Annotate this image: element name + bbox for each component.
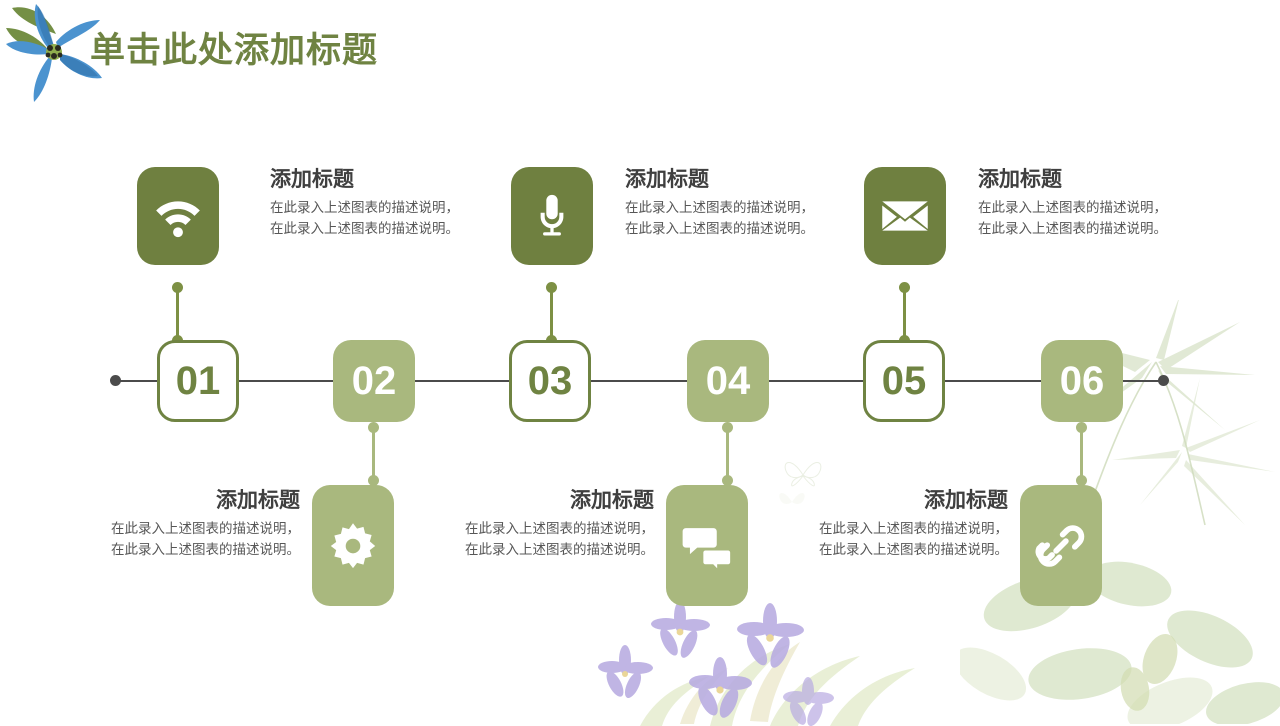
butterfly-decoration-small [775, 487, 809, 515]
item-01-text: 添加标题 在此录入上述图表的描述说明，在此录入上述图表的描述说明。 [270, 168, 466, 240]
timeline-number-05[interactable]: 05 [863, 340, 945, 422]
item-01-title: 添加标题 [270, 168, 466, 191]
item-05-icon-box[interactable] [864, 167, 946, 265]
item-04-body: 在此录入上述图表的描述说明，在此录入上述图表的描述说明。 [458, 519, 654, 561]
item-01-connector [176, 287, 179, 341]
item-05-connector [903, 287, 906, 341]
timeline-axis [115, 380, 1164, 382]
item-03-icon-box[interactable] [511, 167, 593, 265]
item-05-body: 在此录入上述图表的描述说明，在此录入上述图表的描述说明。 [978, 198, 1174, 240]
timeline-number-02[interactable]: 02 [333, 340, 415, 422]
item-01-icon-box[interactable] [137, 167, 219, 265]
item-02-icon-box[interactable] [312, 485, 394, 606]
item-04-connector [726, 427, 729, 481]
item-03-body: 在此录入上述图表的描述说明，在此录入上述图表的描述说明。 [625, 198, 821, 240]
connector-dot-top [546, 282, 557, 293]
connector-dot-top [899, 282, 910, 293]
envelope-icon [879, 190, 931, 242]
connector-dot-top [722, 422, 733, 433]
connector-dot-top [368, 422, 379, 433]
timeline-number-label: 02 [352, 359, 397, 404]
item-02-connector [372, 427, 375, 481]
item-03-title: 添加标题 [625, 168, 821, 191]
item-02-body: 在此录入上述图表的描述说明，在此录入上述图表的描述说明。 [104, 519, 300, 561]
microphone-icon [526, 190, 578, 242]
timeline-number-06[interactable]: 06 [1041, 340, 1123, 422]
timeline-number-03[interactable]: 03 [509, 340, 591, 422]
item-04-text: 添加标题 在此录入上述图表的描述说明，在此录入上述图表的描述说明。 [458, 489, 654, 561]
butterfly-decoration [780, 455, 826, 493]
bottom-right-foliage-decoration [960, 544, 1280, 724]
item-04-title: 添加标题 [458, 489, 654, 512]
item-06-text: 添加标题 在此录入上述图表的描述说明，在此录入上述图表的描述说明。 [812, 489, 1008, 561]
item-06-title: 添加标题 [812, 489, 1008, 512]
timeline-number-04[interactable]: 04 [687, 340, 769, 422]
item-05-text: 添加标题 在此录入上述图表的描述说明，在此录入上述图表的描述说明。 [978, 168, 1174, 240]
timeline-number-label: 03 [528, 359, 573, 404]
timeline-number-label: 05 [882, 359, 927, 404]
timeline-endpoint-left [110, 375, 121, 386]
item-01-body: 在此录入上述图表的描述说明，在此录入上述图表的描述说明。 [270, 198, 466, 240]
purple-flowers-decoration [560, 586, 980, 726]
link-chain-icon [1035, 520, 1087, 572]
item-04-icon-box[interactable] [666, 485, 748, 606]
timeline-number-label: 01 [176, 359, 221, 404]
item-06-connector [1080, 427, 1083, 481]
item-02-text: 添加标题 在此录入上述图表的描述说明，在此录入上述图表的描述说明。 [104, 489, 300, 561]
speech-bubbles-icon [681, 520, 733, 572]
timeline-number-label: 06 [1060, 359, 1105, 404]
connector-dot-top [1076, 422, 1087, 433]
slide-header: 单击此处添加标题 [0, 0, 1280, 104]
item-03-connector [550, 287, 553, 341]
slide-canvas: 单击此处添加标题 01 添加标题 在此录入上述图表的描述说明，在此录入上述图表的… [0, 0, 1280, 720]
item-06-icon-box[interactable] [1020, 485, 1102, 606]
wifi-icon [152, 190, 204, 242]
item-06-body: 在此录入上述图表的描述说明，在此录入上述图表的描述说明。 [812, 519, 1008, 561]
timeline-number-label: 04 [706, 359, 751, 404]
connector-dot-top [172, 282, 183, 293]
item-05-title: 添加标题 [978, 168, 1174, 191]
gear-icon [327, 520, 379, 572]
item-02-title: 添加标题 [104, 489, 300, 512]
item-03-text: 添加标题 在此录入上述图表的描述说明，在此录入上述图表的描述说明。 [625, 168, 821, 240]
timeline-number-01[interactable]: 01 [157, 340, 239, 422]
timeline-endpoint-right [1158, 375, 1169, 386]
page-title: 单击此处添加标题 [90, 22, 378, 73]
